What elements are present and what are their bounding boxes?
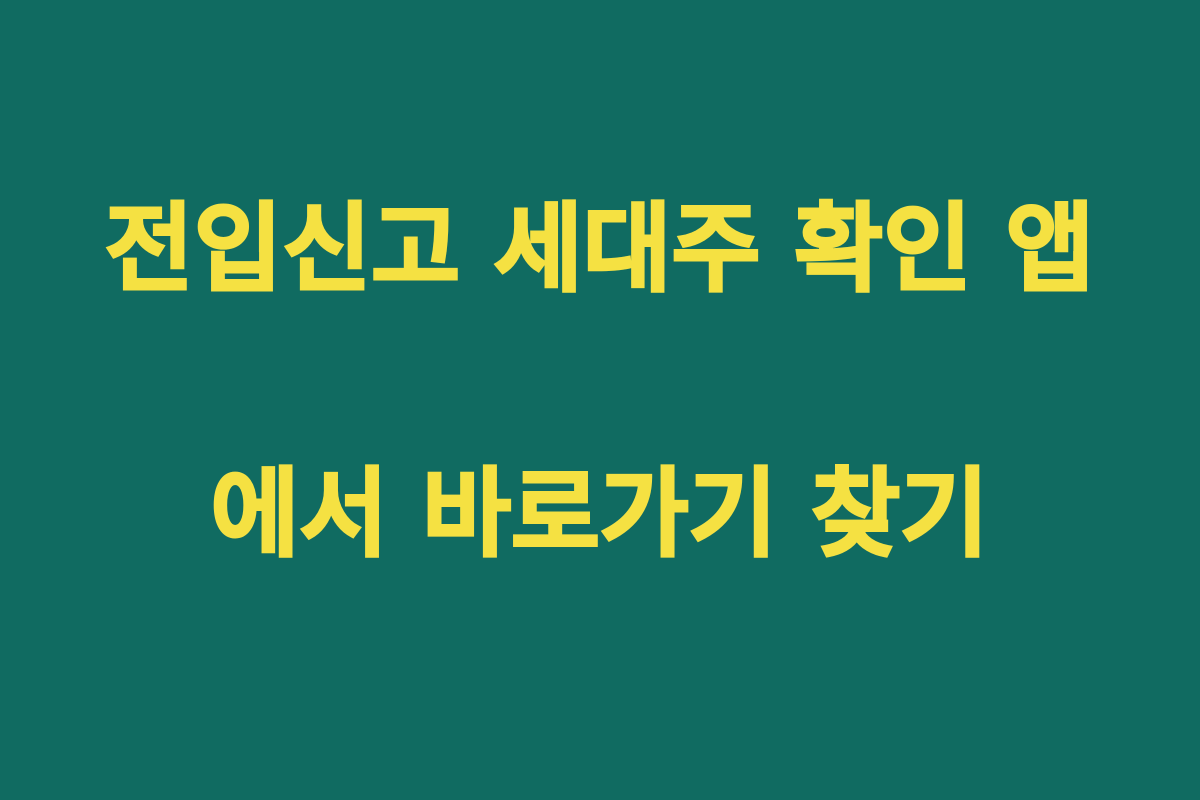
headline-line-1: 전입신고 세대주 확인 앱 xyxy=(60,183,1140,315)
banner-headline: 전입신고 세대주 확인 앱 에서 바로가기 찾기 xyxy=(60,51,1140,713)
banner-background: 전입신고 세대주 확인 앱 에서 바로가기 찾기 xyxy=(0,0,1200,800)
headline-line-2: 에서 바로가기 찾기 xyxy=(60,448,1140,580)
